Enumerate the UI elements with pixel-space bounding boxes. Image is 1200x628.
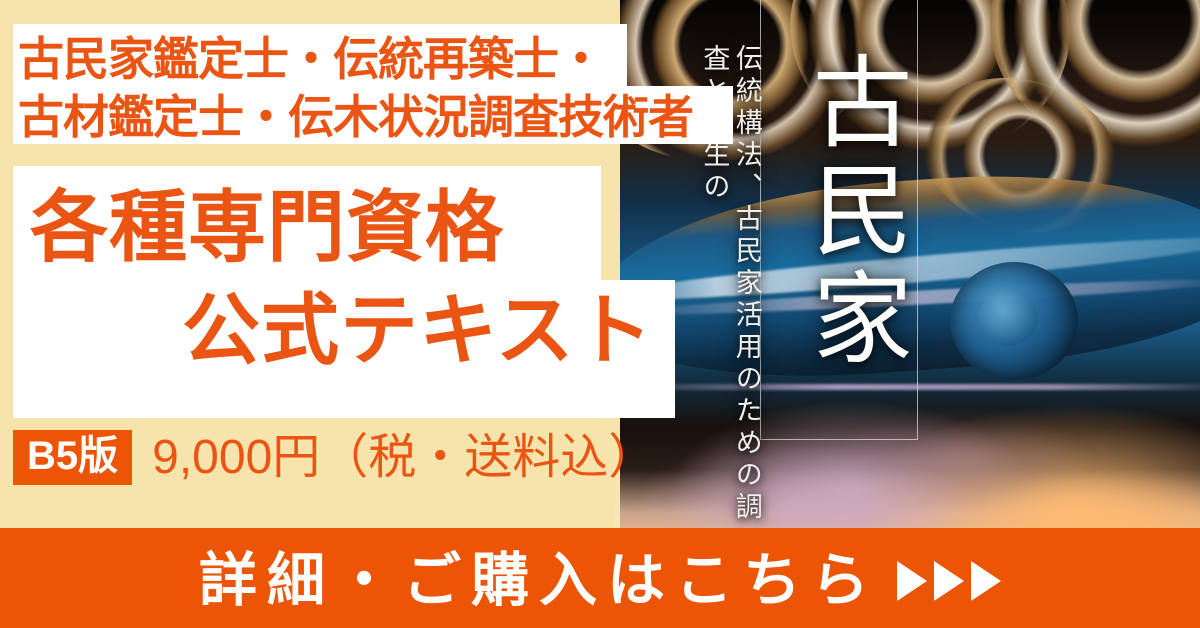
price-text: 9,000円（税・送料込） [152,434,656,482]
headline: 古民家鑑定士・伝統再築士・ 古材鑑定士・伝木状況調査技術者 [18,30,730,147]
chevron-right-icon [934,561,964,601]
format-badge: B5版 [13,430,132,485]
cta-bar[interactable]: 詳細・ご購入はこちら [0,534,1200,628]
carved-spiral-knob [950,262,1078,380]
promotional-banner: 古民家 伝統構法、古民家活用のための調査と再生の 古民家鑑定士・伝統再築士・ 古… [0,0,1200,628]
cta-label: 詳細・ご購入はこちら [199,552,879,610]
headline-line-2: 古材鑑定士・伝木状況調査技術者 [18,88,730,146]
cover-title-vertical: 古民家 [762,12,914,412]
price-row: B5版 9,000円（税・送料込） [13,430,656,485]
chevron-right-icon [897,561,927,601]
main-title: 各種専門資格 公式テキスト [22,176,682,382]
chevron-right-icon [971,561,1001,601]
main-title-line-1: 各種専門資格 [22,176,682,279]
headline-line-1: 古民家鑑定士・伝統再築士・ [18,30,730,88]
knob-inner-highlight [978,290,1038,346]
main-title-line-2: 公式テキスト [22,279,682,382]
cta-arrows [897,561,1001,601]
